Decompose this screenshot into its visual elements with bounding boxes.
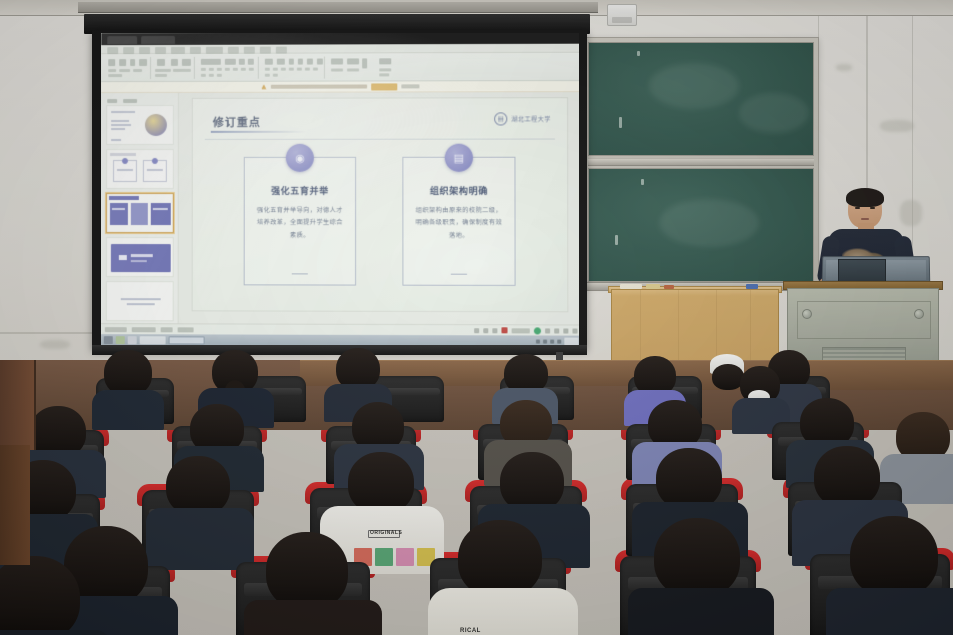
thumbnail-panel-header (105, 96, 174, 105)
slide-card: ▤ 组织架构明确 组织架构由原来的校院二级，明确各级职责，确保制度有效落地。 (402, 157, 515, 286)
wall-smudge (836, 64, 852, 71)
status-bar-right (474, 327, 577, 334)
theme-label[interactable] (132, 327, 156, 332)
slide-thumbnail-1[interactable] (106, 105, 174, 145)
taskbar-app-icon[interactable] (116, 336, 125, 344)
warning-icon (261, 84, 266, 89)
tray-icon[interactable] (550, 339, 554, 343)
settings-icon[interactable] (563, 328, 568, 333)
zoom-slider[interactable] (512, 328, 530, 333)
tray-icon[interactable] (543, 339, 547, 343)
classroom-door[interactable] (0, 360, 36, 450)
tray-icon[interactable] (536, 339, 540, 343)
tab-section[interactable] (260, 46, 271, 53)
wall-seam (0, 332, 92, 334)
tab-insert[interactable] (139, 47, 150, 54)
chalkboard-divider-rail (588, 158, 814, 166)
system-tray (536, 337, 579, 345)
slide-thumbnail-panel[interactable]: + (101, 93, 179, 323)
tab-review[interactable] (228, 46, 239, 53)
enable-editing-button[interactable] (371, 83, 397, 90)
lectern-front-panel (797, 301, 931, 339)
slide-header-divider (205, 139, 555, 140)
lectern-knob[interactable] (802, 309, 812, 319)
card-body: 强化五育并举导向，对德人才培养改革，全面提升学生综合素质。 (257, 205, 343, 242)
window-tab[interactable] (141, 36, 175, 44)
protected-view-message (270, 85, 366, 89)
slide-card-row: ◉ 强化五育并举 强化五育并举导向，对德人才培养改革，全面提升学生综合素质。 ▤ (193, 157, 568, 286)
chalkboard (583, 37, 819, 285)
lectern-knob[interactable] (914, 309, 924, 319)
spellcheck-label[interactable] (178, 327, 194, 332)
demo-desk (611, 289, 779, 366)
ribbon-group-editing (375, 56, 409, 78)
card-footer-rule (292, 273, 308, 275)
desk-item (664, 285, 674, 289)
wall-smudge (40, 340, 70, 349)
presenter-mouth (861, 218, 869, 220)
projection-screen-surface: + 修订重点 卌 湖北工程大学 (101, 33, 579, 345)
wps-presentation-window: + 修订重点 卌 湖北工程大学 (101, 33, 579, 345)
tab-view[interactable] (244, 46, 255, 53)
card-title: 组织架构明确 (415, 184, 502, 197)
ribbon-group-slides (153, 57, 195, 79)
desk-item (646, 284, 660, 289)
tab-file[interactable] (107, 47, 118, 54)
ribbon-toolbar (101, 53, 579, 82)
desk-item (746, 284, 758, 289)
fit-window-icon[interactable] (572, 328, 577, 333)
logo-emblem-icon: 卌 (494, 112, 507, 125)
slide-canvas-area: 修订重点 卌 湖北工程大学 ◉ (179, 92, 579, 324)
tray-icon[interactable] (557, 339, 561, 343)
taskbar-app-icon[interactable] (128, 336, 137, 344)
view-sorter-icon[interactable] (483, 328, 488, 333)
card-body: 组织架构由原来的校院二级，明确各级职责，确保制度有效落地。 (415, 205, 502, 243)
lectern (787, 288, 939, 366)
wall-speaker-device (607, 4, 637, 26)
ribbon-group-drawing (327, 56, 371, 78)
tab-tools[interactable] (276, 46, 287, 53)
current-slide[interactable]: 修订重点 卌 湖北工程大学 ◉ (193, 98, 568, 311)
desk-item (620, 284, 642, 289)
shirt-text: ORIGINALS (370, 530, 402, 536)
start-button[interactable] (104, 336, 113, 344)
os-taskbar (101, 334, 579, 345)
share-icon[interactable] (545, 328, 550, 333)
slide-thumbnail-4[interactable] (105, 237, 173, 277)
view-normal-icon[interactable] (474, 328, 479, 333)
chalkboard-upper-panel (588, 42, 814, 156)
taskbar-window-wps[interactable] (169, 336, 205, 344)
ribbon-group-paragraph (261, 57, 325, 79)
tab-slideshow[interactable] (206, 46, 223, 53)
slide-counter (105, 327, 127, 332)
ceiling-rail (78, 2, 598, 13)
slide-thumbnail-3[interactable] (105, 193, 173, 233)
taskbar-window-explorer[interactable] (140, 336, 166, 344)
ribbon-group-font (197, 57, 259, 79)
lecture-hall-scene: + 修订重点 卌 湖北工程大学 (0, 0, 953, 635)
tab-design[interactable] (155, 46, 166, 53)
clock[interactable] (564, 337, 578, 345)
window-tab[interactable] (107, 36, 137, 44)
university-logo: 卌 湖北工程大学 (494, 112, 551, 125)
screen-bottom-bar (92, 345, 587, 355)
audience-area: ORIGINALS (0, 360, 953, 635)
slides-tab[interactable] (123, 98, 137, 102)
lightbulb-icon: ◉ (286, 144, 314, 172)
logo-glyph: 卌 (498, 114, 504, 123)
presenter-eye (855, 207, 860, 209)
wall-smudge (880, 120, 914, 132)
slide-title: 修订重点 (213, 114, 261, 130)
card-badge-glyph: ▤ (454, 151, 465, 164)
logo-text: 湖北工程大学 (511, 114, 551, 123)
presenter-eye (870, 207, 875, 209)
presenter-laptop-screen (838, 259, 886, 283)
projected-image: + 修订重点 卌 湖北工程大学 (101, 33, 579, 345)
card-badge-glyph: ◉ (295, 151, 305, 164)
outline-tab[interactable] (107, 99, 117, 103)
language-label[interactable] (161, 327, 173, 332)
presenter-hair (846, 188, 884, 207)
document-icon: ▤ (445, 144, 473, 172)
slide-thumbnail-5[interactable] (105, 281, 173, 321)
chalkboard-lower-panel (588, 168, 814, 282)
title-underline (211, 131, 307, 133)
learn-more-link[interactable] (401, 85, 419, 89)
tab-transition[interactable] (171, 46, 185, 53)
view-reading-icon[interactable] (492, 328, 497, 333)
slide-thumbnail-2[interactable] (106, 149, 174, 189)
ribbon-group-clipboard (105, 57, 151, 79)
tools-icon[interactable] (554, 328, 559, 333)
slideshow-button[interactable] (501, 327, 507, 333)
wps-cloud-icon[interactable] (534, 327, 541, 334)
tab-animation[interactable] (190, 46, 201, 53)
card-footer-rule (451, 273, 467, 275)
classroom-door-lower[interactable] (0, 445, 30, 565)
tab-home[interactable] (123, 47, 134, 54)
shirt-text: RICAL (460, 628, 481, 634)
card-title: 强化五育并举 (257, 184, 343, 197)
slide-card: ◉ 强化五育并举 强化五育并举导向，对德人才培养改革，全面提升学生综合素质。 (244, 157, 356, 286)
